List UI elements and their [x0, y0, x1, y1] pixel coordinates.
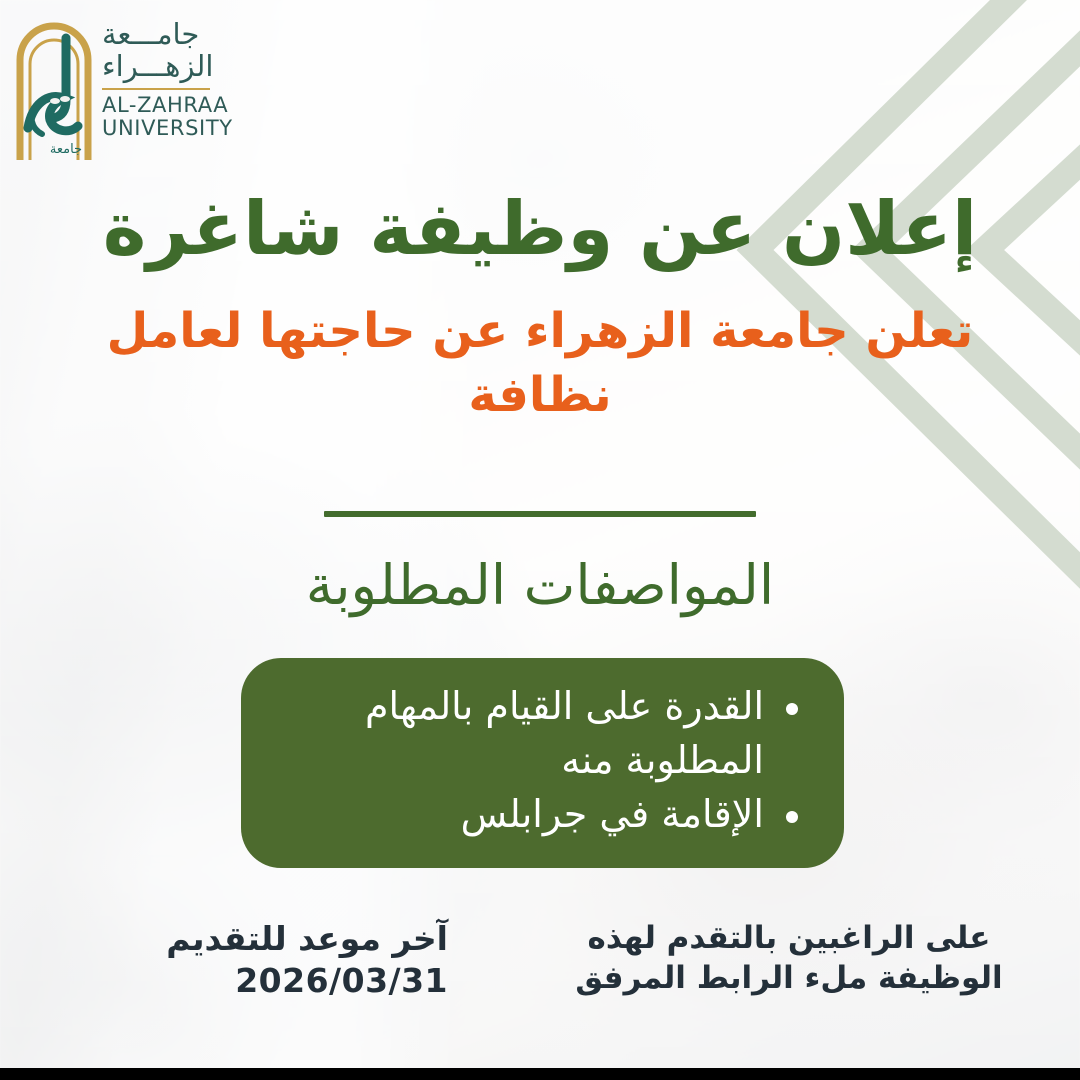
- requirements-list: القدرة على القيام بالمهام المطلوبة منه ا…: [281, 680, 804, 842]
- list-item-label: الإقامة في جرابلس: [461, 792, 764, 836]
- bullet-dot-icon: [786, 703, 798, 715]
- deadline-label: آخر موعد للتقديم: [88, 918, 448, 960]
- requirements-section-title: المواصفات المطلوبة: [0, 552, 1080, 618]
- bullet-dot-icon: [786, 811, 798, 823]
- job-vacancy-poster: جامعة جامـــعة الزهـــراء AL-ZAHRAA UNIV…: [0, 0, 1080, 1080]
- list-item-label: القدرة على القيام بالمهام المطلوبة منه: [365, 684, 764, 782]
- section-divider: [324, 511, 756, 517]
- page-title: إعلان عن وظيفة شاغرة: [0, 186, 1080, 273]
- apply-instructions: على الراغبين بالتقدم لهذه الوظيفة ملء ال…: [554, 918, 1024, 999]
- requirements-box: القدرة على القيام بالمهام المطلوبة منه ا…: [241, 658, 844, 868]
- bottom-bar: [0, 1068, 1080, 1080]
- poster-subheadline: تعلن جامعة الزهراء عن حاجتها لعامل نظافة: [90, 300, 990, 428]
- deadline-date: 2026/03/31: [88, 960, 448, 1002]
- deadline-block: آخر موعد للتقديم 2026/03/31: [88, 918, 448, 1002]
- list-item: الإقامة في جرابلس: [281, 788, 804, 842]
- poster-content: إعلان عن وظيفة شاغرة تعلن جامعة الزهراء …: [0, 0, 1080, 1080]
- list-item: القدرة على القيام بالمهام المطلوبة منه: [281, 680, 804, 788]
